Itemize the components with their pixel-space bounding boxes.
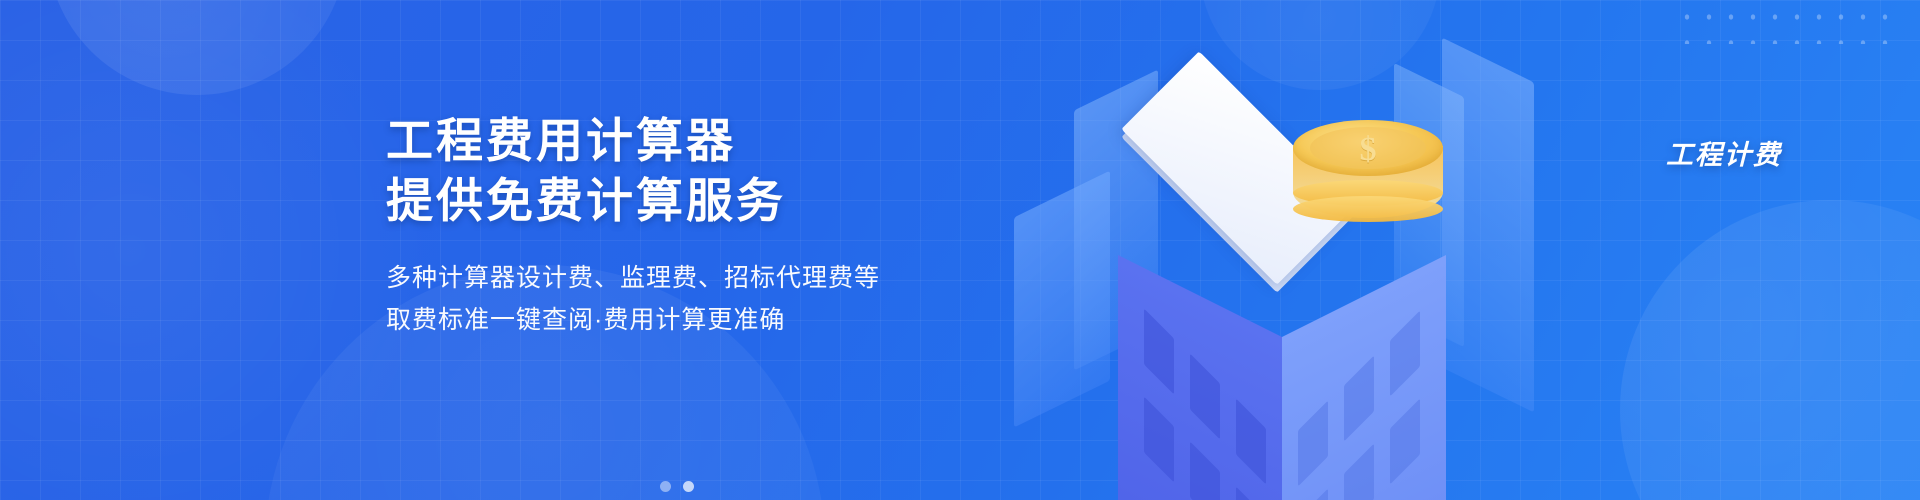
- building-window: [1236, 399, 1266, 485]
- background-bar-a: [1014, 171, 1110, 428]
- building-window: [1344, 444, 1374, 500]
- dollar-sign-icon: $: [1310, 131, 1426, 169]
- building-window: [1390, 311, 1420, 397]
- banner-copy-block: 工程费用计算器 提供免费计算服务 多种计算器设计费、监理费、招标代理费等 取费标…: [386, 112, 1086, 340]
- left-glow-decoration: [0, 0, 440, 500]
- building-face-right: [1282, 255, 1446, 500]
- building-window: [1298, 489, 1328, 500]
- isometric-building: $: [1118, 170, 1448, 500]
- banner-headline-line1: 工程费用计算器: [386, 112, 1086, 170]
- building-window: [1144, 309, 1174, 395]
- building-window: [1190, 442, 1220, 500]
- building-window: [1298, 401, 1328, 487]
- building-window: [1144, 397, 1174, 483]
- carousel-dot-1[interactable]: [660, 481, 671, 492]
- hero-banner: 工程费用计算器 提供免费计算服务 多种计算器设计费、监理费、招标代理费等 取费标…: [0, 0, 1920, 500]
- decorative-circle-bottom-right: [1620, 200, 1920, 500]
- gold-coin-stack-icon: $: [1293, 120, 1443, 240]
- building-face-left: [1118, 255, 1282, 500]
- building-window: [1390, 399, 1420, 485]
- banner-illustration: $ 工程计费: [1000, 0, 1560, 500]
- carousel-dots[interactable]: [660, 481, 694, 492]
- building-window: [1236, 487, 1266, 500]
- coin-inner-face: $: [1310, 127, 1426, 169]
- coin-ring: [1293, 196, 1443, 222]
- carousel-dot-2[interactable]: [683, 481, 694, 492]
- building-window: [1344, 356, 1374, 442]
- illustration-label: 工程计费: [1666, 133, 1782, 172]
- background-bar-c: [1442, 38, 1534, 413]
- banner-subtitle-line2: 取费标准一键查阅·费用计算更准确: [386, 300, 1086, 340]
- coin-top-face: $: [1293, 120, 1443, 176]
- banner-headline-line2: 提供免费计算服务: [386, 172, 1086, 230]
- building-window: [1190, 354, 1220, 440]
- dot-matrix-decoration: [1676, 4, 1896, 44]
- banner-subtitle-line1: 多种计算器设计费、监理费、招标代理费等: [386, 258, 1086, 298]
